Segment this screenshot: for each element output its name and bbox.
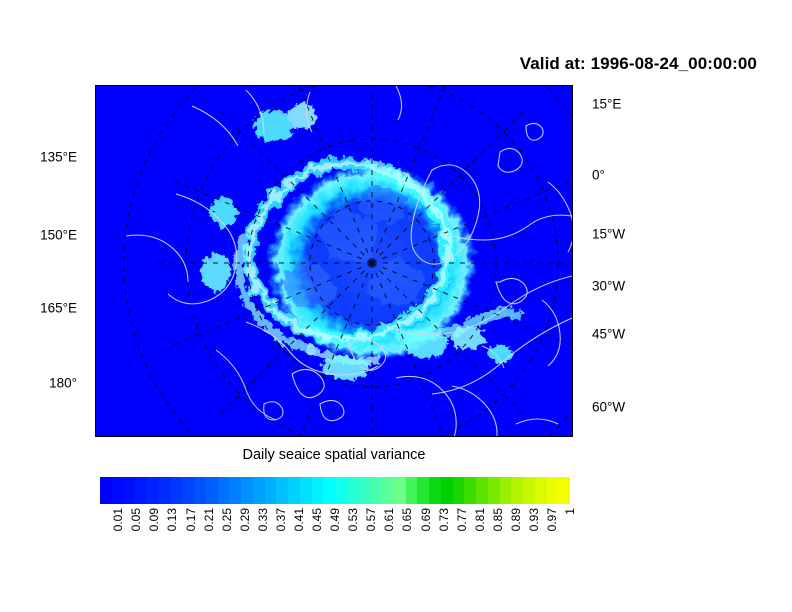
colorbar-band-14 [265, 477, 277, 504]
colorbar-band-38 [547, 477, 559, 504]
axis-label-left-3: 180° [15, 376, 77, 390]
colorbar-band-35 [511, 477, 523, 504]
colorbar-tick-21: 0.85 [491, 508, 505, 531]
colorbar-tick-3: 0.13 [165, 508, 179, 531]
colorbar-tick-6: 0.25 [220, 508, 234, 531]
colorbar-band-15 [276, 477, 288, 504]
colorbar-band-13 [253, 477, 265, 504]
colorbar-tick-5: 0.21 [202, 508, 216, 531]
colorbar-tick-19: 0.77 [455, 508, 469, 531]
axis-label-right-1: 0° [592, 168, 605, 182]
colorbar-tick-2: 0.09 [147, 508, 161, 531]
colorbar-band-18 [312, 477, 324, 504]
colorbar-band-16 [288, 477, 300, 504]
colorbar-band-0 [100, 477, 112, 504]
colorbar-band-30 [453, 477, 465, 504]
axis-label-left-2: 165°E [15, 301, 77, 315]
colorbar-band-2 [124, 477, 136, 504]
axis-label-right-5: 60°W [592, 400, 625, 414]
colorbar-tick-14: 0.57 [364, 508, 378, 531]
colorbar-tick-7: 0.29 [238, 508, 252, 531]
colorbar-band-28 [429, 477, 441, 504]
colorbar-band-29 [441, 477, 453, 504]
colorbar-tick-17: 0.69 [419, 508, 433, 531]
colorbar-band-24 [382, 477, 394, 504]
colorbar-tick-10: 0.41 [292, 508, 306, 531]
colorbar-tick-9: 0.37 [274, 508, 288, 531]
colorbar-band-36 [523, 477, 535, 504]
colorbar-tick-18: 0.73 [437, 508, 451, 531]
colorbar-band-22 [359, 477, 371, 504]
colorbar-band-33 [488, 477, 500, 504]
colorbar-tick-labels: 0.010.050.090.130.170.210.250.290.330.37… [100, 508, 570, 568]
colorbar-band-37 [535, 477, 547, 504]
colorbar-tick-0: 0.01 [111, 508, 125, 531]
colorbar-band-11 [229, 477, 241, 504]
colorbar-band-31 [464, 477, 476, 504]
map-plot-area[interactable] [95, 85, 573, 437]
colorbar-tick-1: 0.05 [129, 508, 143, 531]
colorbar-band-27 [417, 477, 429, 504]
colorbar-tick-4: 0.17 [184, 508, 198, 531]
colorbar-tick-25: 1 [563, 508, 577, 515]
colorbar-band-10 [218, 477, 230, 504]
colorbar-tick-12: 0.49 [328, 508, 342, 531]
colorbar-band-17 [300, 477, 312, 504]
colorbar-band-39 [558, 477, 570, 504]
colorbar-gradient [100, 477, 570, 504]
colorbar-band-34 [500, 477, 512, 504]
colorbar-tick-22: 0.89 [509, 508, 523, 531]
colorbar-band-6 [171, 477, 183, 504]
colorbar-tick-8: 0.33 [256, 508, 270, 531]
axis-label-right-0: 15°E [592, 97, 621, 111]
colorbar-band-32 [476, 477, 488, 504]
colorbar-tick-23: 0.93 [527, 508, 541, 531]
map-canvas [96, 86, 572, 436]
axis-label-left-0: 135°E [15, 150, 77, 164]
colorbar-band-21 [347, 477, 359, 504]
colorbar-tick-24: 0.97 [545, 508, 559, 531]
colorbar[interactable] [100, 477, 570, 504]
colorbar-tick-20: 0.81 [473, 508, 487, 531]
colorbar-tick-11: 0.45 [310, 508, 324, 531]
colorbar-tick-16: 0.65 [400, 508, 414, 531]
colorbar-band-9 [206, 477, 218, 504]
colorbar-tick-15: 0.61 [382, 508, 396, 531]
colorbar-band-8 [194, 477, 206, 504]
axis-label-right-3: 30°W [592, 279, 625, 293]
figure-root: Valid at: 1996-08-24_00:00:00 [0, 0, 792, 612]
colorbar-band-26 [406, 477, 418, 504]
axis-label-right-4: 45°W [592, 327, 625, 341]
colorbar-tick-13: 0.53 [346, 508, 360, 531]
colorbar-band-23 [370, 477, 382, 504]
colorbar-band-4 [147, 477, 159, 504]
colorbar-band-7 [182, 477, 194, 504]
colorbar-band-5 [159, 477, 171, 504]
axis-label-left-1: 150°E [15, 228, 77, 242]
page-title: Valid at: 1996-08-24_00:00:00 [520, 54, 757, 74]
colorbar-band-25 [394, 477, 406, 504]
axis-label-right-2: 15°W [592, 227, 625, 241]
colorbar-band-12 [241, 477, 253, 504]
colorbar-band-20 [335, 477, 347, 504]
colorbar-band-1 [112, 477, 124, 504]
colorbar-band-19 [323, 477, 335, 504]
plot-caption: Daily seaice spatial variance [95, 447, 573, 463]
colorbar-band-3 [135, 477, 147, 504]
